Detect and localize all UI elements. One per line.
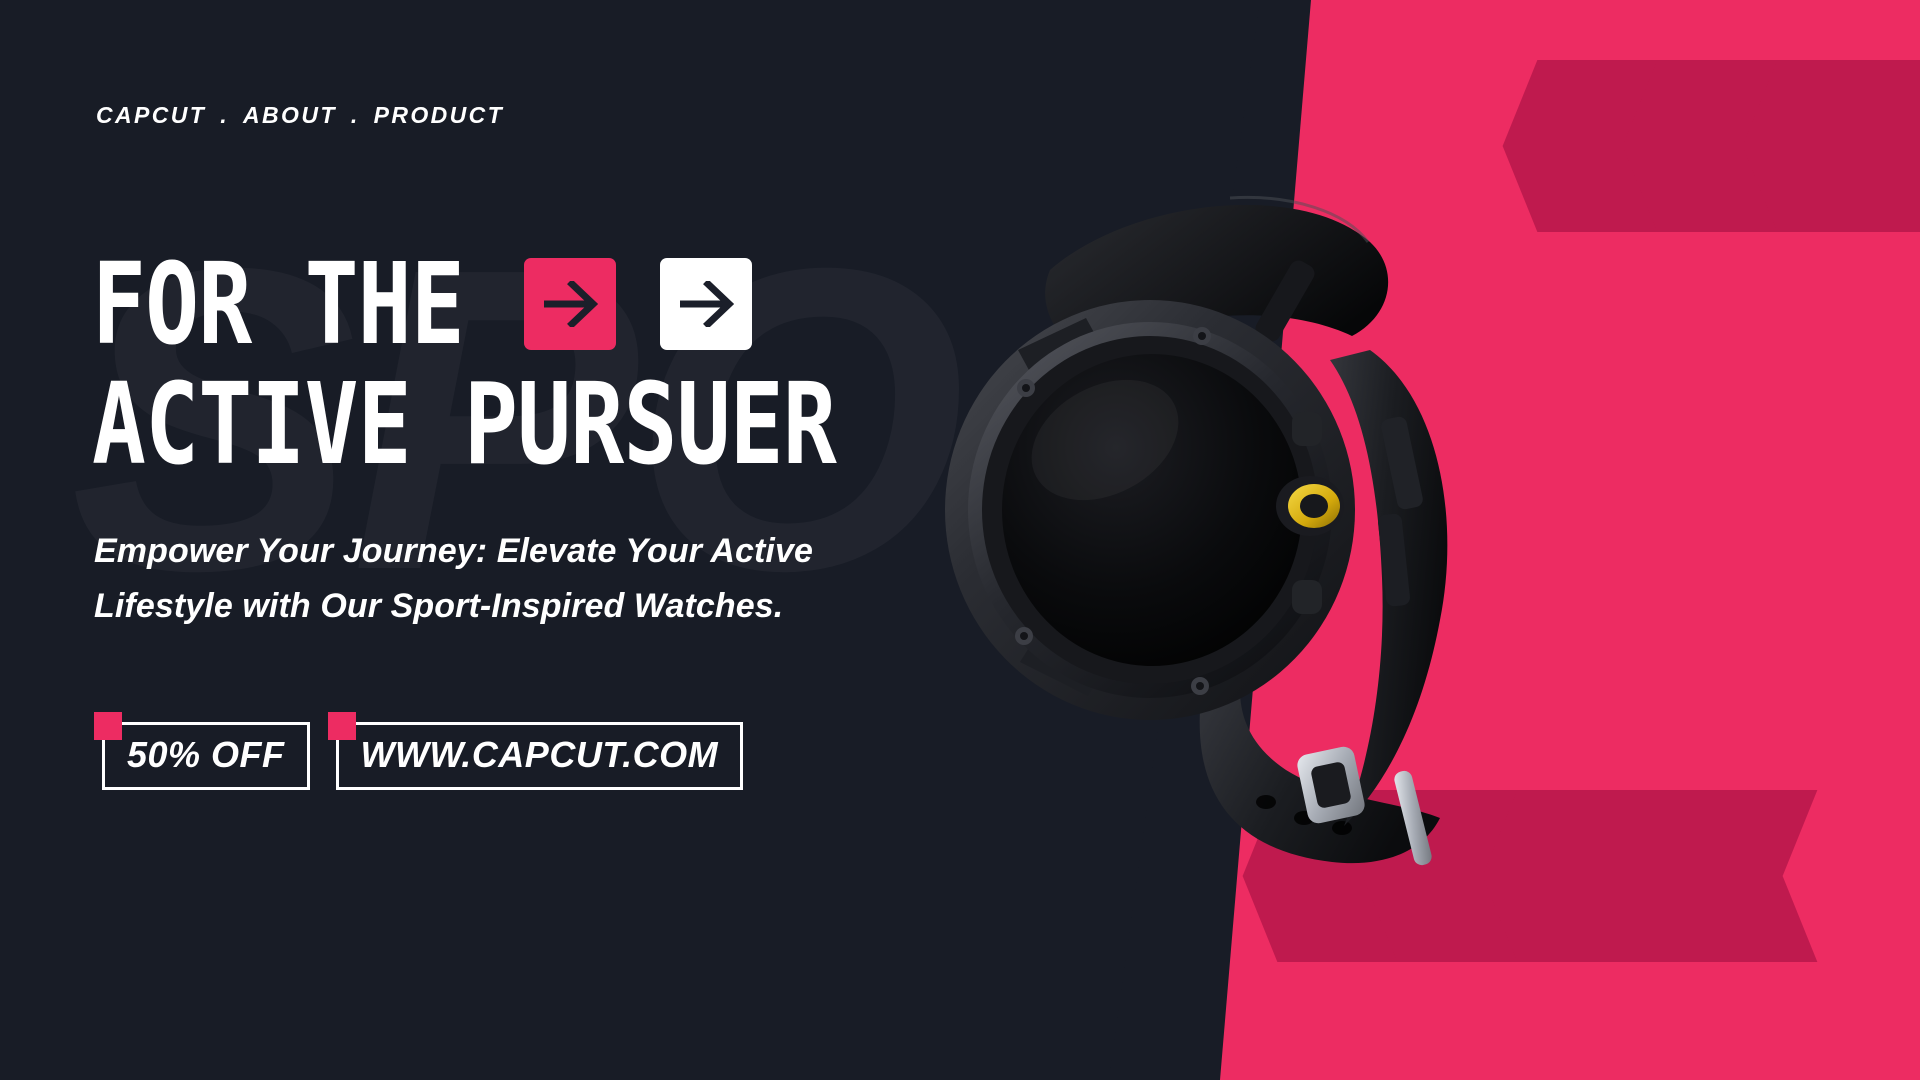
arrow-right-icon: [542, 281, 598, 327]
watch-crown-button: [1276, 476, 1344, 536]
watch-side-button-bottom: [1292, 580, 1322, 614]
nav-separator-1: .: [206, 102, 243, 129]
badge-corner-square: [94, 712, 122, 740]
nav-item-about[interactable]: ABOUT: [243, 102, 337, 129]
badge-corner-square: [328, 712, 356, 740]
nav-separator-2: .: [337, 102, 374, 129]
cta-arrow-button-primary[interactable]: [524, 258, 616, 350]
website-badge-label: WWW.CAPCUT.COM: [361, 734, 719, 776]
top-navigation: CAPCUT . ABOUT . PRODUCT: [96, 102, 504, 129]
discount-badge-label: 50% OFF: [127, 734, 285, 776]
banner-canvas: SPO CAPCUT . ABOUT . PRODUCT FOR THE ACT…: [0, 0, 1920, 1080]
hero-tagline: Empower Your Journey: Elevate Your Activ…: [94, 524, 813, 634]
headline-line-1: FOR THE: [92, 252, 464, 360]
watch-side-button-top: [1292, 412, 1322, 446]
website-badge[interactable]: WWW.CAPCUT.COM: [328, 712, 744, 790]
headline-line-2: ACTIVE PURSUER: [92, 372, 836, 480]
website-badge-box[interactable]: WWW.CAPCUT.COM: [336, 722, 744, 790]
cta-arrow-group: [524, 258, 752, 350]
cta-arrow-button-secondary[interactable]: [660, 258, 752, 350]
product-image-smartwatch: [900, 150, 1540, 890]
arrow-right-icon: [678, 281, 734, 327]
discount-badge[interactable]: 50% OFF: [94, 712, 310, 790]
tagline-line-2: Lifestyle with Our Sport-Inspired Watche…: [94, 579, 813, 634]
nav-item-capcut[interactable]: CAPCUT: [96, 102, 206, 129]
discount-badge-box[interactable]: 50% OFF: [102, 722, 310, 790]
tagline-line-1: Empower Your Journey: Elevate Your Activ…: [94, 524, 813, 579]
nav-item-product[interactable]: PRODUCT: [374, 102, 505, 129]
footer-badges: 50% OFF WWW.CAPCUT.COM: [94, 712, 743, 790]
